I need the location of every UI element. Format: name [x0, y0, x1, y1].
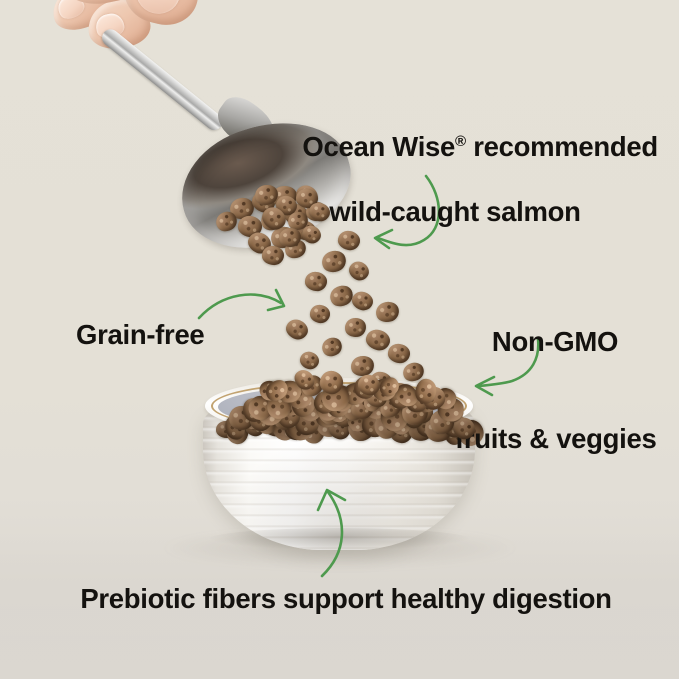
label-grain-free: Grain-free [76, 319, 204, 351]
kibble [387, 342, 412, 364]
label-non-gmo-line2: fruits & veggies [455, 423, 655, 455]
spoon-handle [99, 26, 226, 134]
bowl-base-shadow [209, 528, 469, 550]
label-prebiotic-fibers: Prebiotic fibers support healthy digesti… [66, 583, 626, 615]
kibble [374, 300, 401, 325]
kibble [344, 317, 367, 338]
kibble [309, 303, 332, 324]
label-non-gmo: Non-GMO fruits & veggies [455, 261, 655, 521]
arrow-to-falling-kibble [199, 290, 284, 318]
kibble [283, 316, 311, 342]
label-ocean-wise-line2: wild-caught salmon [273, 196, 637, 228]
kibble [319, 334, 345, 360]
registered-trademark-icon: ® [455, 133, 466, 150]
kibble [298, 349, 322, 371]
label-non-gmo-line1: Non-GMO [455, 326, 655, 358]
product-infographic-scene: Ocean Wise® recommended wild-caught salm… [0, 0, 679, 679]
bowl-kibble-group [210, 374, 470, 434]
label-ocean-wise-line1: Ocean Wise® recommended [302, 131, 658, 162]
